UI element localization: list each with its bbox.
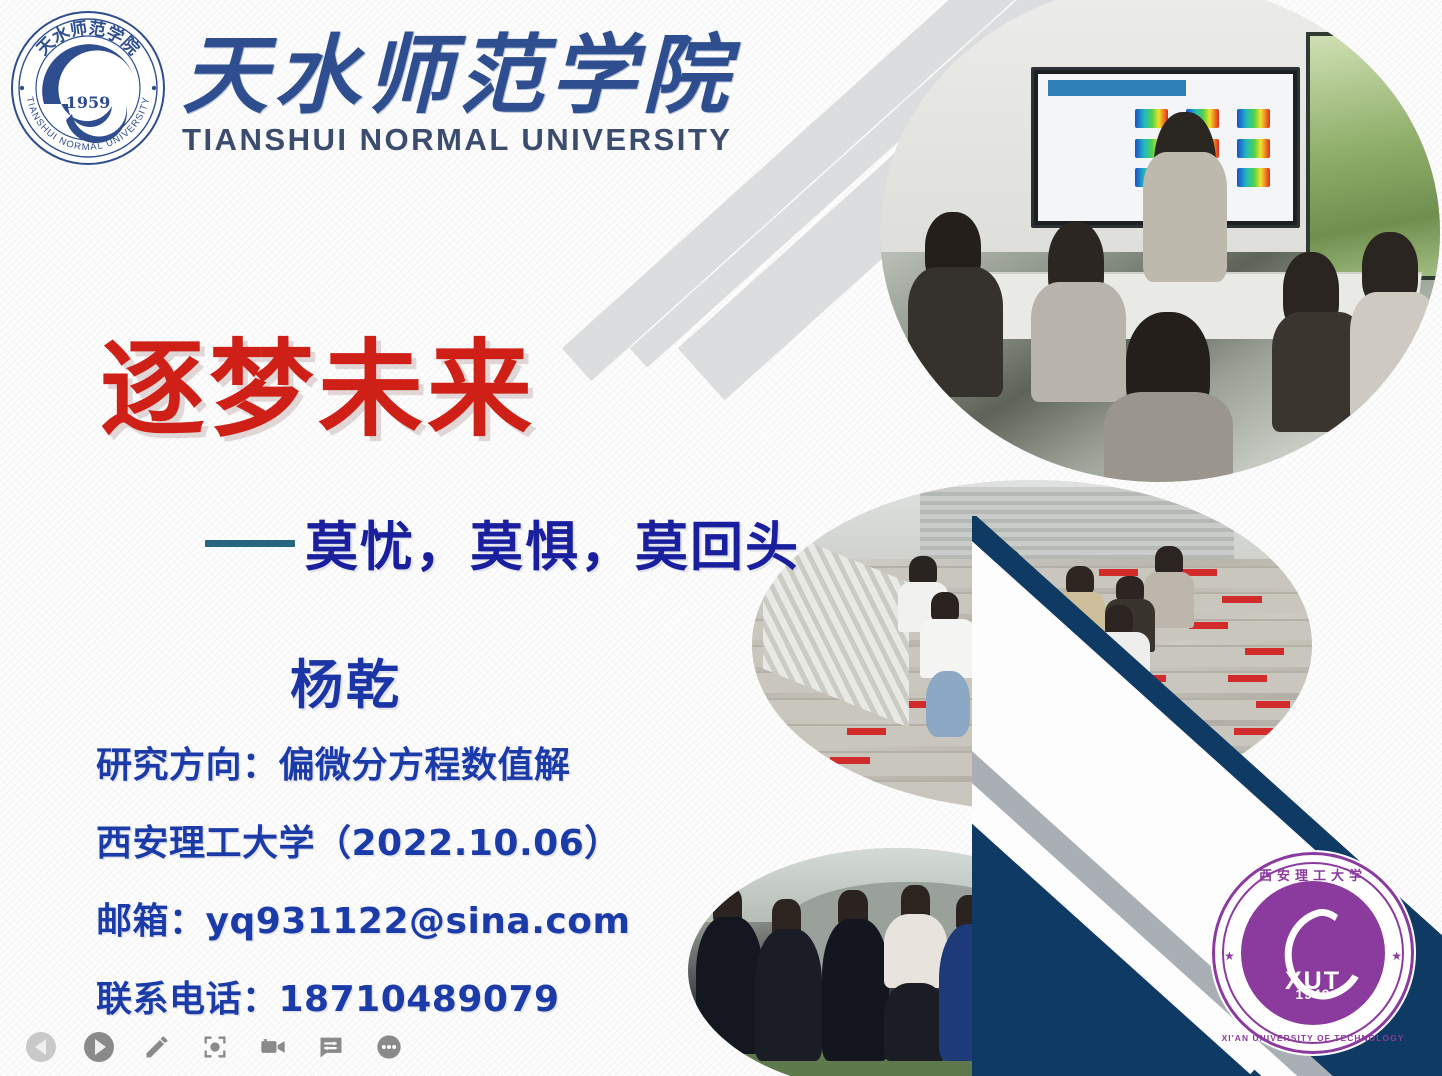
slide-subtitle: 莫忧，莫惧，莫回头 [305,505,800,581]
info-line-affiliation: 西安理工大学（2022.10.06） [96,814,630,866]
xut-university-logo: 西安理工大学 ★ ★ XI'AN UNIVERSITY OF TECHNOLOG… [1212,852,1414,1054]
screenshot-button[interactable] [198,1030,232,1064]
discussion-button[interactable] [314,1030,348,1064]
graduation-group-photo [688,848,1106,1076]
screenshot-icon [201,1033,229,1061]
info-line-research: 研究方向：偏微分方程数值解 [96,736,630,788]
previous-slide-icon [26,1032,56,1062]
star-icon: ★ [1391,949,1402,963]
chat-bubble-icon [317,1033,345,1061]
player-toolbar [24,1030,406,1064]
university-name-cn: 天水师范学院 [182,33,734,119]
xut-logo-year: 1949 [1241,986,1385,1002]
info-line-phone: 联系电话：18710489079 [96,970,630,1022]
xut-logo-name-en: XI'AN UNIVERSITY OF TECHNOLOGY [1215,1033,1411,1043]
slide-main-title: 逐梦未来 [100,338,536,443]
pencil-icon [143,1033,171,1061]
tianshui-university-emblem: 天水师范学院 TIANSHUI NORMAL UNIVERSITY 1959 [8,8,168,168]
info-line-email: 邮箱：yq931122@sina.com [96,892,630,944]
university-header: 天水师范学院 TIANSHUI NORMAL UNIVERSITY 1959 天… [8,8,734,168]
more-options-icon [375,1033,403,1061]
university-name-en: TIANSHUI NORMAL UNIVERSITY [182,123,745,158]
video-camera-icon [259,1033,287,1061]
university-name-block: 天水师范学院 TIANSHUI NORMAL UNIVERSITY [182,33,734,158]
star-icon: ★ [1224,949,1235,963]
more-options-button[interactable] [372,1030,406,1064]
previous-slide-button[interactable] [24,1030,58,1064]
annotate-button[interactable] [140,1030,174,1064]
group-on-stairs-photo [752,480,1312,810]
subtitle-dash-icon [205,540,295,547]
record-video-button[interactable] [256,1030,290,1064]
slide-subtitle-row: 莫忧，莫惧，莫回头 [205,505,800,581]
play-button[interactable] [82,1030,116,1064]
presentation-slide: 西安理工大学 ★ ★ XI'AN UNIVERSITY OF TECHNOLOG… [0,0,1442,1076]
play-icon [84,1032,114,1062]
presenter-info-block: 研究方向：偏微分方程数值解 西安理工大学（2022.10.06） 邮箱：yq93… [96,736,630,1022]
classroom-presentation-photo [880,0,1440,482]
svg-text:1959: 1959 [66,93,111,112]
xut-logo-core: XUT 1949 [1241,881,1385,1025]
presenter-name: 杨乾 [290,643,402,719]
